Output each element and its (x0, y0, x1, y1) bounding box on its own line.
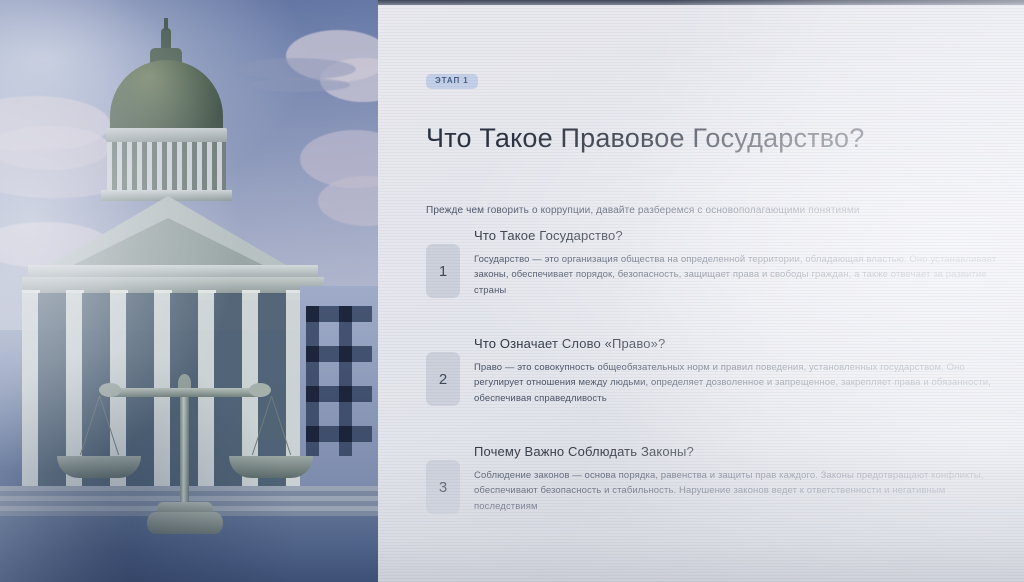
scales-string-right (252, 396, 272, 455)
dome-colonnade (107, 142, 226, 192)
item-body: Что Означает Слово «Право»? Право — это … (474, 336, 1024, 406)
scales-of-justice (85, 360, 285, 555)
stage-badge: ЭТАП 1 (426, 74, 478, 89)
slide-content: ЭТАП 1 Что Такое Правовое Государство? П… (426, 0, 1024, 582)
scales-string-left (99, 396, 119, 455)
list-item: 2 Что Означает Слово «Право»? Право — эт… (426, 336, 1024, 422)
scales-pan-right (229, 456, 313, 478)
item-number-badge: 1 (426, 244, 460, 298)
item-body: Почему Важно Соблюдать Законы? Соблюдени… (474, 444, 1024, 514)
page-title: Что Такое Правовое Государство? (426, 123, 986, 154)
list-item: 1 Что Такое Государство? Государство — э… (426, 228, 1024, 314)
item-number-badge: 2 (426, 352, 460, 406)
scales-beam (105, 388, 265, 397)
item-title: Что Такое Государство? (474, 228, 1024, 243)
illustration-panel (0, 0, 378, 582)
item-number-badge: 3 (426, 460, 460, 514)
item-text: Соблюдение законов — основа порядка, рав… (474, 468, 1002, 514)
slide-content-panel: ЭТАП 1 Что Такое Правовое Государство? П… (378, 0, 1024, 582)
scales-pan-left (57, 456, 141, 478)
concept-list: 1 Что Такое Государство? Государство — э… (426, 228, 1024, 552)
item-body: Что Такое Государство? Государство — это… (474, 228, 1024, 298)
adjacent-building (300, 286, 378, 498)
item-text: Государство — это организация общества н… (474, 252, 1002, 298)
cloud-shape (250, 78, 350, 92)
item-title: Что Означает Слово «Право»? (474, 336, 1024, 351)
dome-cornice (106, 128, 227, 142)
pediment-relief (63, 218, 273, 270)
scales-post (180, 388, 189, 518)
cloud-shape (236, 58, 356, 80)
item-title: Почему Важно Соблюдать Законы? (474, 444, 1024, 459)
list-item: 3 Почему Важно Соблюдать Законы? Соблюде… (426, 444, 1024, 530)
scales-base (147, 512, 223, 534)
presentation-screenshot: ЭТАП 1 Что Такое Правовое Государство? П… (0, 0, 1024, 582)
item-text: Право — это совокупность общеобязательны… (474, 360, 1002, 406)
slide-subtitle: Прежде чем говорить о коррупции, давайте… (426, 205, 966, 216)
